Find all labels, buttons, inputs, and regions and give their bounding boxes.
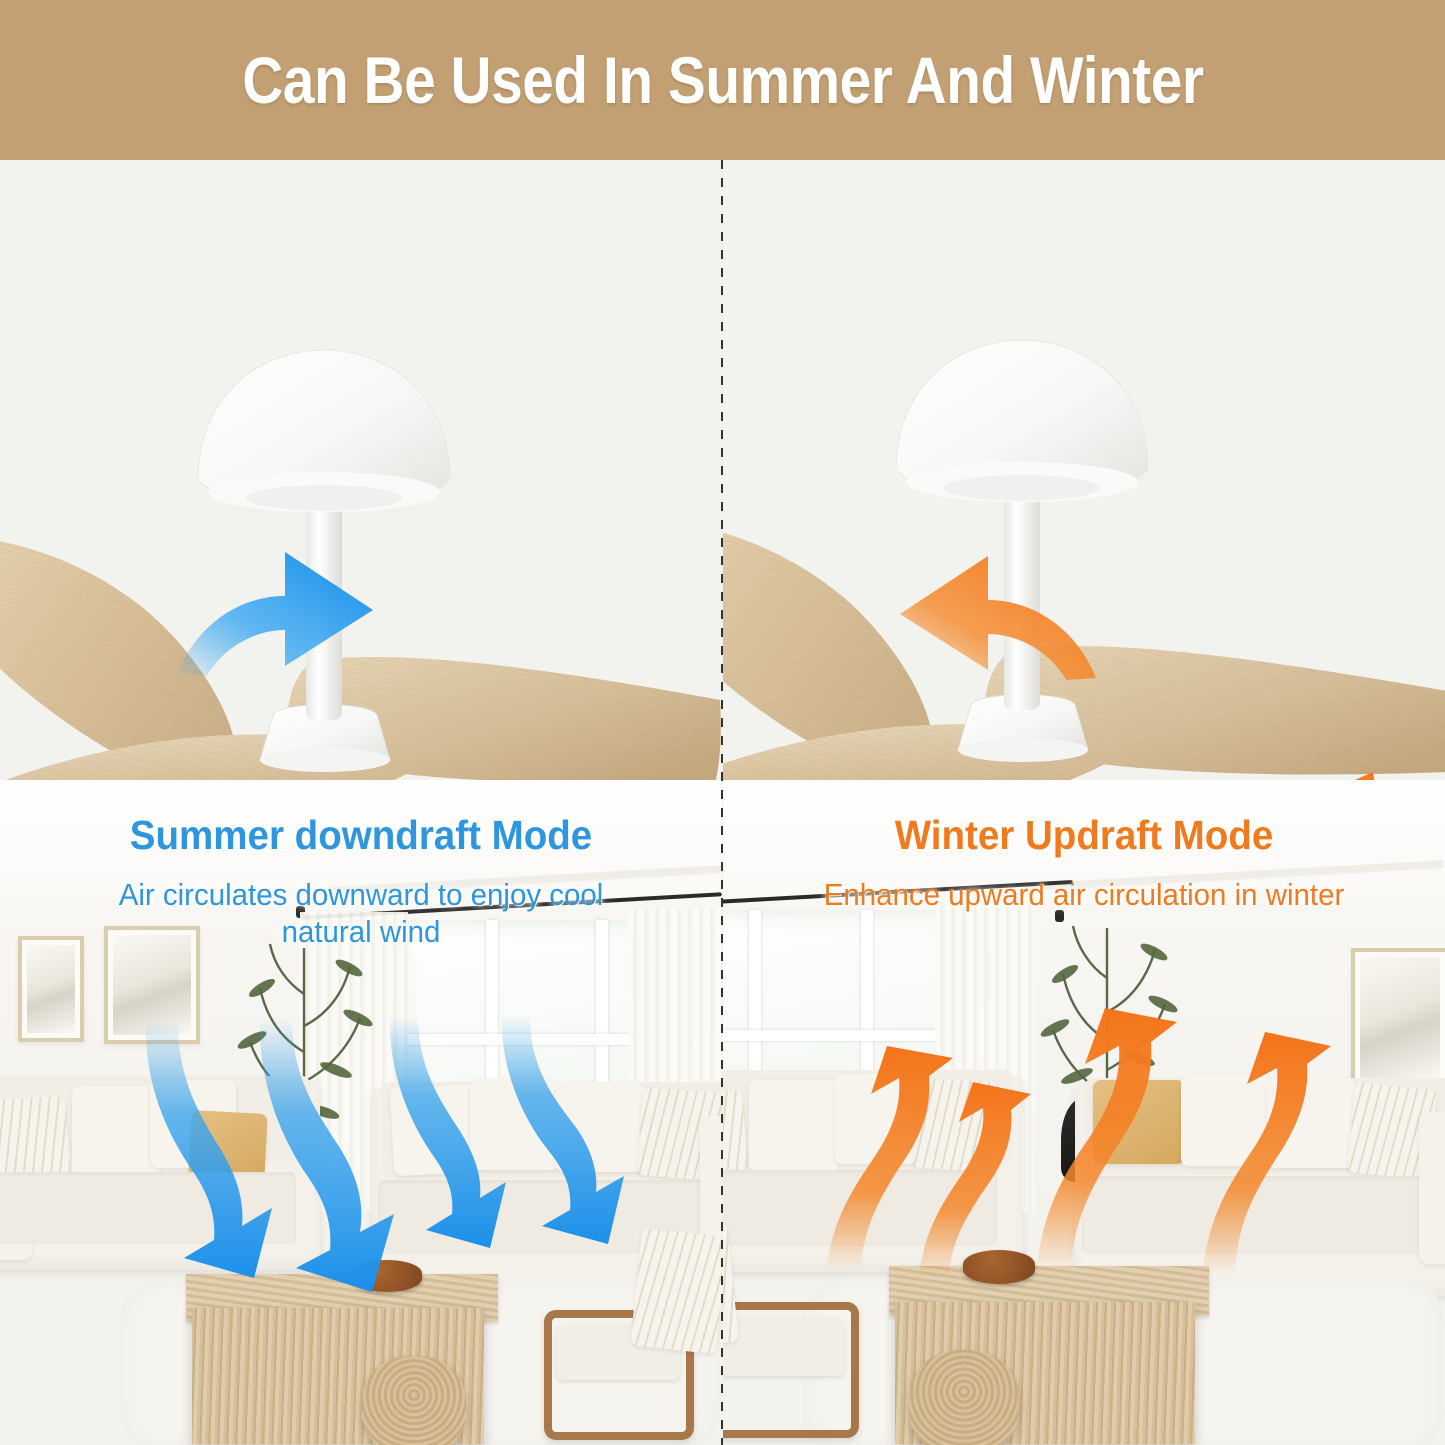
ceiling-fan-summer [0,180,722,820]
caption-winter: Winter Updraft Mode Enhance upward air c… [723,812,1445,914]
panel-divider [721,160,723,1445]
rotation-arrow-summer [175,538,390,678]
room-scene-summer: Summer downdraft Mode Air circulates dow… [0,780,722,1445]
decorative-bowl [963,1250,1035,1284]
page-title: Can Be Used In Summer And Winter [242,42,1203,118]
caption-subtitle-winter: Enhance upward air circulation in winter [741,877,1427,914]
panel-summer: Summer downdraft Mode Air circulates dow… [0,160,722,1445]
caption-subtitle-summer: Air circulates downward to enjoy cool na… [18,877,704,950]
panel-winter: Winter Updraft Mode Enhance upward air c… [723,160,1445,1445]
product-area-winter [723,160,1445,850]
ceiling-fan-winter [723,168,1445,828]
product-area-summer [0,160,722,850]
pouf-ottoman [362,1356,466,1445]
infographic-root: Can Be Used In Summer And Winter [0,0,1445,1445]
caption-summer: Summer downdraft Mode Air circulates dow… [0,812,722,950]
wall-art-1 [1351,948,1445,1088]
room-scene-winter: Winter Updraft Mode Enhance upward air c… [723,780,1445,1445]
caption-title-summer: Summer downdraft Mode [22,812,701,859]
decorative-bowl [352,1260,422,1292]
header-banner: Can Be Used In Summer And Winter [0,0,1445,160]
wall-art-1 [18,936,84,1042]
caption-title-winter: Winter Updraft Mode [745,812,1424,859]
pouf-ottoman [909,1350,1019,1445]
rotation-arrow-winter [883,542,1098,682]
